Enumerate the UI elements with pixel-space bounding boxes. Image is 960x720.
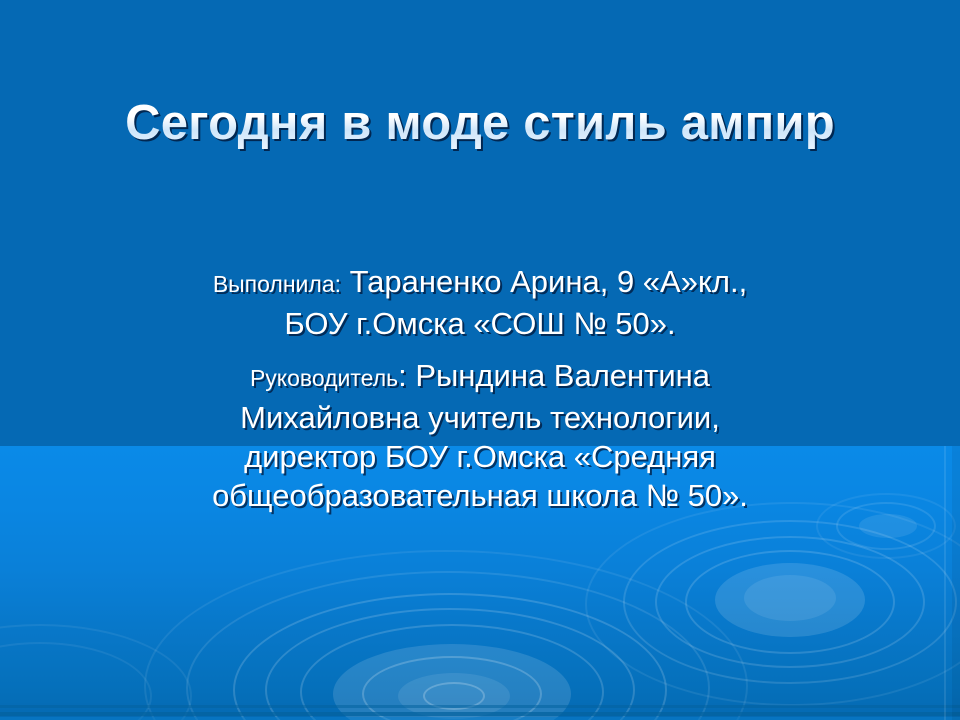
school-line: БОУ г.Омска «СОШ № 50».	[30, 304, 930, 343]
presentation-slide: Сегодня в моде стиль ампир Выполнила: Та…	[0, 0, 960, 720]
supervisor-value: : Рындина Валентина	[398, 358, 710, 393]
supervisor-label: Руководитель	[250, 365, 398, 391]
bottom-band	[0, 705, 960, 708]
author-label: Выполнила:	[213, 271, 341, 297]
slide-body: Выполнила: Тараненко Арина, 9 «А»кл., БО…	[30, 262, 930, 515]
right-edge-seam	[944, 446, 946, 720]
slide-title: Сегодня в моде стиль ампир	[0, 96, 960, 151]
author-line: Выполнила: Тараненко Арина, 9 «А»кл.,	[30, 262, 930, 304]
supervisor-line: Руководитель: Рындина Валентина	[30, 356, 930, 398]
right-edge-shade	[952, 446, 960, 720]
bottom-band	[0, 712, 960, 716]
author-value: Тараненко Арина, 9 «А»кл.,	[341, 264, 747, 299]
director-line: директор БОУ г.Омска «Средняя	[30, 437, 930, 476]
director-line-2: общеобразовательная школа № 50».	[30, 476, 930, 515]
supervisor-line-2: Михайловна учитель технологии,	[30, 398, 930, 437]
